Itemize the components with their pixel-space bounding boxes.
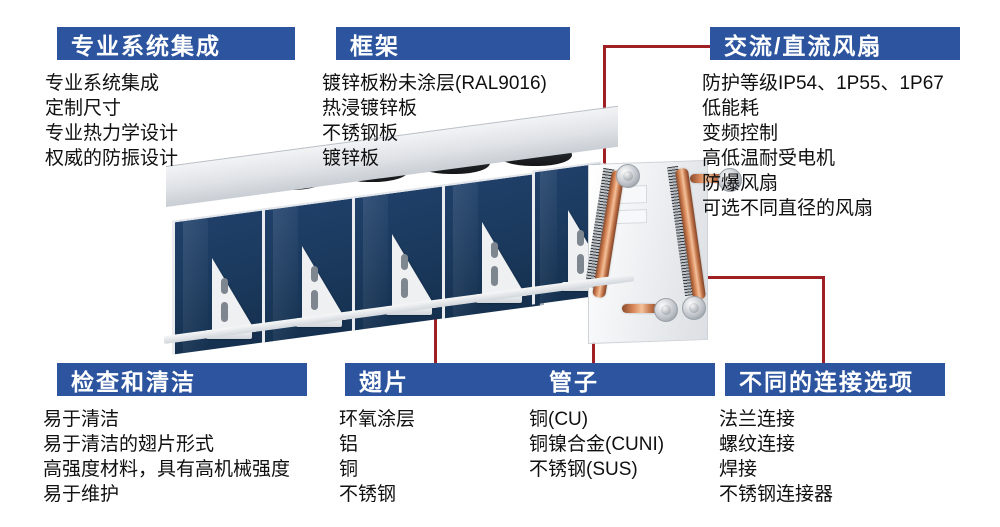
callout-header-fins: 翅片 — [345, 363, 535, 396]
support-bracket — [392, 234, 436, 308]
callout-list-fins: 环氧涂层 铝 铜 不锈钢 — [339, 407, 535, 507]
list-item: 可选不同直径的风扇 — [702, 196, 960, 221]
diagram-canvas: 专业系统集成 专业系统集成 定制尺寸 专业热力学设计 权威的防振设计 框架 镀锌… — [0, 0, 1000, 527]
list-item: 镀锌板 — [322, 146, 570, 171]
callout-connections: 不同的连接选项 法兰连接 螺纹连接 焊接 不锈钢连接器 — [725, 363, 945, 507]
callout-tubes: 管子 铜(CU) 铜镍合金(CUNI) 不锈钢(SUS) — [535, 363, 715, 482]
callout-header-fans: 交流/直流风扇 — [710, 27, 960, 60]
list-item: 高强度材料，具有高机械强度 — [43, 457, 307, 482]
support-bracket — [302, 246, 346, 320]
callout-list-connections: 法兰连接 螺纹连接 焊接 不锈钢连接器 — [719, 407, 945, 507]
support-bracket — [482, 222, 526, 296]
flange-connector-top-left — [616, 164, 640, 188]
list-item: 专业系统集成 — [45, 71, 297, 96]
callout-header-label: 管子 — [549, 363, 599, 397]
dry-cooler-product-image — [170, 140, 730, 355]
list-item: 铜(CU) — [529, 407, 715, 432]
list-item: 易于维护 — [43, 482, 307, 507]
callout-header-label: 专业系统集成 — [71, 27, 221, 61]
flange-connector-bottom-left — [654, 298, 678, 322]
support-bracket — [212, 258, 256, 332]
list-item: 易于清洁 — [43, 407, 307, 432]
list-item: 不锈钢连接器 — [719, 482, 945, 507]
callout-list-fans: 防护等级IP54、1P55、1P67 低能耗 变频控制 高低温耐受电机 防爆风扇… — [702, 71, 960, 221]
callout-header-label: 检查和清洁 — [71, 363, 196, 397]
callout-list-inspection: 易于清洁 易于清洁的翅片形式 高强度材料，具有高机械强度 易于维护 — [43, 407, 307, 507]
callout-system-integration: 专业系统集成 专业系统集成 定制尺寸 专业热力学设计 权威的防振设计 — [57, 27, 297, 171]
callout-list-tubes: 铜(CU) 铜镍合金(CUNI) 不锈钢(SUS) — [529, 407, 715, 482]
callout-list-system-integration: 专业系统集成 定制尺寸 专业热力学设计 权威的防振设计 — [45, 71, 297, 171]
list-item: 铜镍合金(CUNI) — [529, 432, 715, 457]
list-item: 环氧涂层 — [339, 407, 535, 432]
list-item: 低能耗 — [702, 96, 960, 121]
callout-header-label: 翅片 — [359, 363, 409, 397]
list-item: 镀锌板粉未涂层(RAL9016) — [322, 71, 570, 96]
callout-header-frame: 框架 — [336, 27, 570, 60]
flange-connector-bottom-right — [682, 296, 706, 320]
callout-fins: 翅片 环氧涂层 铝 铜 不锈钢 — [345, 363, 535, 507]
list-item: 易于清洁的翅片形式 — [43, 432, 307, 457]
callout-fans: 交流/直流风扇 防护等级IP54、1P55、1P67 低能耗 变频控制 高低温耐… — [710, 27, 960, 221]
list-item: 不锈钢(SUS) — [529, 457, 715, 482]
callout-header-system-integration: 专业系统集成 — [57, 27, 295, 60]
callout-frame: 框架 镀锌板粉未涂层(RAL9016) 热浸镀锌板 不锈钢板 镀锌板 — [336, 27, 570, 171]
callout-list-frame: 镀锌板粉未涂层(RAL9016) 热浸镀锌板 不锈钢板 镀锌板 — [322, 71, 570, 171]
list-item: 变频控制 — [702, 121, 960, 146]
list-item: 专业热力学设计 — [45, 121, 297, 146]
callout-header-inspection: 检查和清洁 — [57, 363, 307, 396]
list-item: 螺纹连接 — [719, 432, 945, 457]
list-item: 铜 — [339, 457, 535, 482]
list-item: 铝 — [339, 432, 535, 457]
list-item: 防护等级IP54、1P55、1P67 — [702, 71, 960, 96]
callout-header-label: 框架 — [350, 27, 400, 61]
connector-line-connections-vertical — [822, 276, 825, 366]
list-item: 定制尺寸 — [45, 96, 297, 121]
callout-header-tubes: 管子 — [535, 363, 715, 396]
list-item: 焊接 — [719, 457, 945, 482]
list-item: 不锈钢 — [339, 482, 535, 507]
callout-header-label: 交流/直流风扇 — [724, 27, 882, 61]
list-item: 防爆风扇 — [702, 171, 960, 196]
callout-inspection: 检查和清洁 易于清洁 易于清洁的翅片形式 高强度材料，具有高机械强度 易于维护 — [57, 363, 307, 507]
list-item: 权威的防振设计 — [45, 146, 297, 171]
list-item: 高低温耐受电机 — [702, 146, 960, 171]
list-item: 热浸镀锌板 — [322, 96, 570, 121]
connector-line-fans-horizontal — [603, 45, 710, 48]
list-item: 法兰连接 — [719, 407, 945, 432]
callout-header-label: 不同的连接选项 — [739, 363, 914, 397]
list-item: 不锈钢板 — [322, 121, 570, 146]
callout-header-connections: 不同的连接选项 — [725, 363, 945, 396]
